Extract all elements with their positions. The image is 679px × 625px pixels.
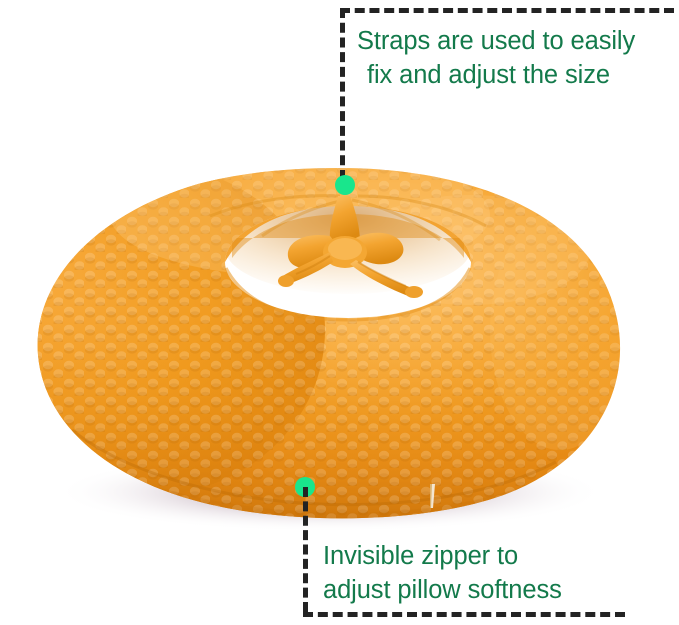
zipper-callout-line1: Invisible zipper to (323, 539, 562, 573)
bottom-callout-vertical-line (303, 487, 308, 612)
straps-callout-line2: fix and adjust the size (357, 58, 635, 92)
product-annotation-image: Straps are used to easily fix and adjust… (0, 0, 679, 625)
top-callout-horizontal-line (340, 8, 674, 13)
top-callout-marker-dot (335, 175, 355, 195)
top-callout-vertical-line (340, 8, 345, 180)
zipper-callout-text: Invisible zipper to adjust pillow softne… (323, 539, 562, 607)
straps-callout-line1: Straps are used to easily (357, 24, 635, 58)
bottom-callout-horizontal-line (303, 612, 625, 617)
zipper-callout-line2: adjust pillow softness (323, 573, 562, 607)
straps-callout-text: Straps are used to easily fix and adjust… (357, 24, 635, 92)
